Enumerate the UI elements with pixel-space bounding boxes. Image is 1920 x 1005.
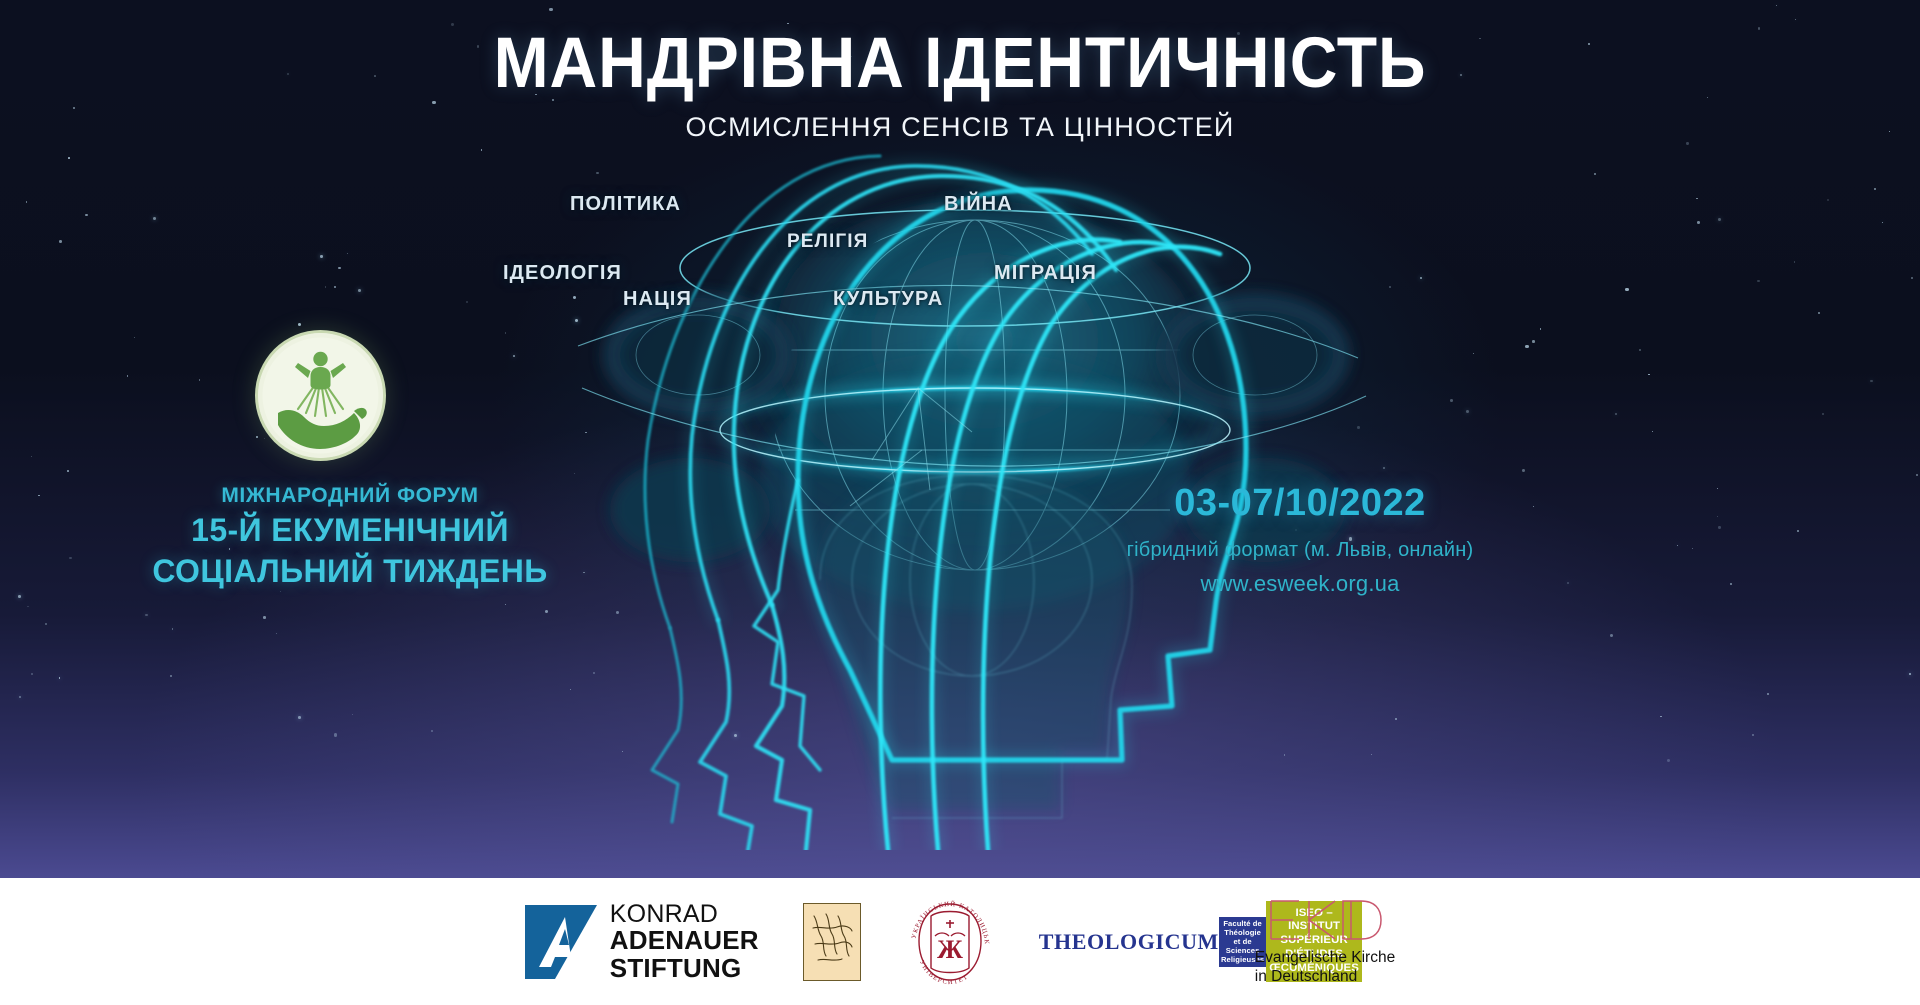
theologicum-title: THEOLOGICUM [1039, 929, 1219, 953]
partner-logo-theologicum: THEOLOGICUM Faculté de Théologie et de S… [1039, 901, 1211, 982]
concept-label-mihratsiya: МІГРАЦІЯ [994, 262, 1097, 285]
forum-block: МІЖНАРОДНИЙ ФОРУМ 15-Й ЕКУМЕНІЧНИЙ СОЦІА… [140, 482, 560, 592]
partner-logo-ekd: Evangelische Kirche in Deutschland [1255, 897, 1395, 986]
event-details-block: 03-07/10/2022 гібридний формат (м. Львів… [1050, 480, 1550, 597]
page-title: МАНДРІВНА ІДЕНТИЧНІСТЬ [67, 27, 1853, 101]
ies-mark-icon [803, 903, 861, 981]
event-format: гібридний формат (м. Львів, онлайн) [1050, 539, 1550, 562]
concept-label-relihiya: РЕЛІГІЯ [787, 231, 868, 253]
kas-line-3: STIFTUNG [610, 955, 759, 983]
ecumenical-social-week-emblem-icon [258, 333, 383, 458]
ekd-mark-icon [1265, 897, 1385, 943]
concept-label-kultura: КУЛЬТУРА [833, 288, 943, 311]
poster-canvas: ПОЛІТИКА ВІЙНА РЕЛІГІЯ ІДЕОЛОГІЯ МІГРАЦІ… [0, 0, 1920, 1005]
ucu-seal-icon: УКРАЇНСЬКИЙ КАТОЛИЦЬКИЙ УНІВЕРСИТЕТ Ж [905, 896, 995, 988]
forum-line-1: МІЖНАРОДНИЙ ФОРУМ [140, 482, 560, 510]
forum-line-3: СОЦІАЛЬНИЙ ТИЖДЕНЬ [140, 551, 560, 592]
kas-mark-icon [525, 905, 597, 979]
concept-label-ideolohiya: ІДЕОЛОГІЯ [503, 262, 622, 285]
svg-text:Ж: Ж [937, 935, 963, 964]
forum-line-2: 15-Й ЕКУМЕНІЧНИЙ [140, 510, 560, 551]
partner-logo-konrad-adenauer-stiftung: KONRAD ADENAUER STIFTUNG [525, 901, 759, 983]
event-dates: 03-07/10/2022 [1050, 480, 1550, 528]
event-website[interactable]: www.esweek.org.ua [1050, 571, 1550, 597]
concept-label-natsiya: НАЦІЯ [623, 288, 692, 311]
ekd-line-1: Evangelische Kirche [1255, 948, 1395, 967]
kas-line-1: KONRAD [610, 901, 759, 928]
ekd-line-2: in Deutschland [1255, 967, 1395, 986]
kas-line-2: ADENAUER [610, 927, 759, 955]
page-subtitle: ОСМИСЛЕННЯ СЕНСІВ ТА ЦІННОСТЕЙ [0, 112, 1920, 143]
partner-footer: KONRAD ADENAUER STIFTUNG [0, 878, 1920, 1005]
concept-label-viyna: ВІЙНА [944, 193, 1013, 216]
partner-logo-ukrainian-catholic-university: УКРАЇНСЬКИЙ КАТОЛИЦЬКИЙ УНІВЕРСИТЕТ Ж [905, 896, 995, 988]
concept-label-polityka: ПОЛІТИКА [570, 193, 681, 216]
partner-logo-ies [803, 903, 861, 981]
